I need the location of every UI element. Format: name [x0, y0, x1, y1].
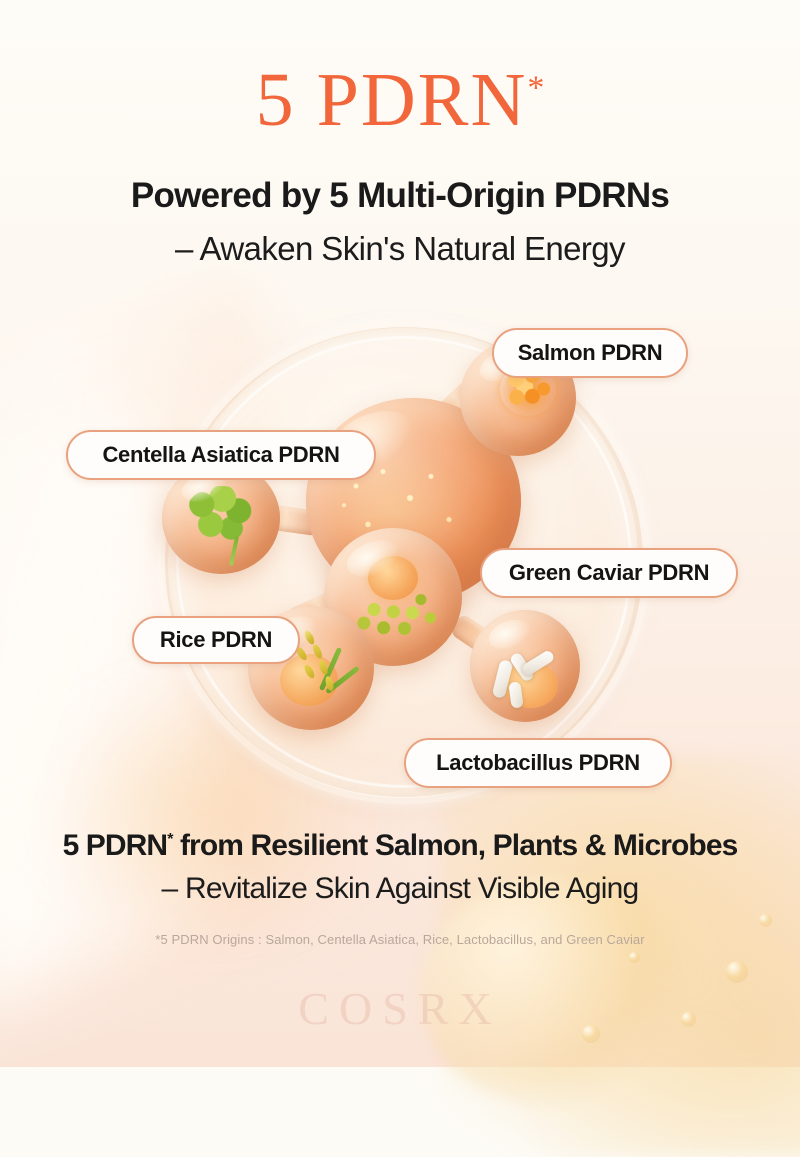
claim-primary-post: from Resilient Salmon, Plants & Microbes: [173, 829, 738, 862]
page-title-text: 5 PDRN: [256, 58, 528, 142]
brand-watermark: COSRX: [0, 982, 800, 1035]
ingredient-sphere-lactobacillus: [470, 610, 580, 722]
centella-leaf-icon: [184, 486, 258, 548]
claim-primary: 5 PDRN* from Resilient Salmon, Plants & …: [0, 829, 800, 863]
rice-grain-icon: [303, 629, 316, 646]
decorative-bubble: [629, 952, 640, 963]
footnote: *5 PDRN Origins : Salmon, Centella Asiat…: [0, 932, 800, 947]
label-pill-salmon: Salmon PDRN: [492, 328, 688, 378]
claim-secondary: – Revitalize Skin Against Visible Aging: [0, 872, 800, 906]
page-title: 5 PDRN*: [0, 62, 800, 138]
label-pill-lactobacillus: Lactobacillus PDRN: [404, 738, 672, 788]
label-pill-rice: Rice PDRN: [132, 616, 300, 664]
subtitle-primary: Powered by 5 Multi-Origin PDRNs: [0, 176, 800, 216]
subtitle-secondary: – Awaken Skin's Natural Energy: [0, 230, 800, 268]
label-pill-centella: Centella Asiatica PDRN: [66, 430, 376, 480]
claim-primary-pre: 5 PDRN: [63, 829, 168, 862]
decorative-bubble: [759, 914, 772, 927]
label-pill-green-caviar: Green Caviar PDRN: [480, 548, 738, 598]
page-title-asterisk: *: [527, 70, 544, 107]
decorative-bubble: [726, 961, 748, 983]
